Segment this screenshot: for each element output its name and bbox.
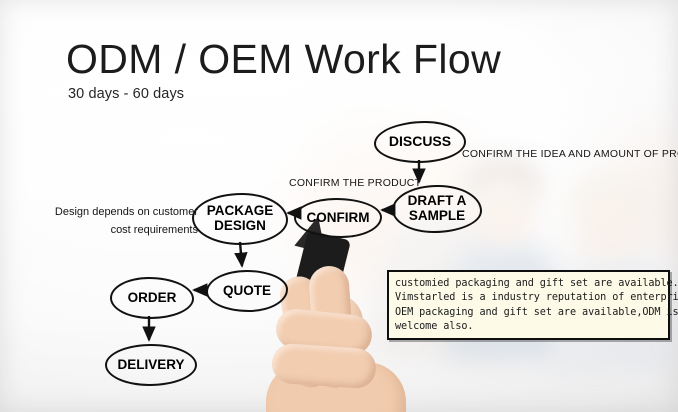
flow-node-package-design[interactable]: PACKAGE DESIGN — [192, 193, 288, 245]
flow-node-discuss-label: DISCUSS — [389, 134, 451, 149]
annotation-design-note: Design depends on customer cost requirem… — [48, 203, 198, 239]
flow-node-draft-label-line1: DRAFT A — [408, 194, 467, 209]
info-line-2: Vimstarled is a industry reputation of e… — [395, 291, 664, 305]
annotation-design-note-line2: cost requirements — [111, 224, 198, 236]
flow-node-package-label-line2: DESIGN — [207, 219, 274, 234]
flow-node-confirm-label: CONFIRM — [307, 211, 370, 226]
page-title: ODM / OEM Work Flow — [66, 36, 501, 83]
info-line-3: OEM packaging and gift set are available… — [395, 306, 664, 320]
flow-node-delivery-label: DELIVERY — [117, 358, 184, 373]
flow-node-draft-a-sample[interactable]: DRAFT A SAMPLE — [392, 185, 482, 233]
info-line-4: welcome also. — [395, 320, 664, 334]
screenshot-root: ODM / OEM Work Flow 30 days - 60 days CO… — [0, 0, 678, 412]
page-subtitle: 30 days - 60 days — [68, 86, 184, 102]
annotation-confirm-product: CONFIRM THE PRODUCT — [289, 177, 421, 189]
annotation-confirm-idea: CONFIRM THE IDEA AND AMOUNT OF PRODUCTS — [462, 148, 678, 160]
flow-node-discuss[interactable]: DISCUSS — [374, 121, 466, 163]
flow-node-confirm[interactable]: CONFIRM — [294, 198, 382, 238]
flow-node-draft-label-line2: SAMPLE — [408, 209, 467, 224]
flow-node-quote-label: QUOTE — [223, 284, 271, 299]
info-callout-box: customied packaging and gift set are ava… — [387, 270, 670, 340]
flow-node-package-label-line1: PACKAGE — [207, 204, 274, 219]
arrow-package-to-quote — [240, 242, 242, 266]
flow-node-order[interactable]: ORDER — [110, 277, 194, 319]
info-line-1: customied packaging and gift set are ava… — [395, 277, 664, 291]
flow-node-quote[interactable]: QUOTE — [206, 270, 288, 312]
flow-node-delivery[interactable]: DELIVERY — [105, 344, 197, 386]
flow-node-order-label: ORDER — [128, 291, 177, 306]
annotation-design-note-line1: Design depends on customer — [55, 206, 198, 218]
